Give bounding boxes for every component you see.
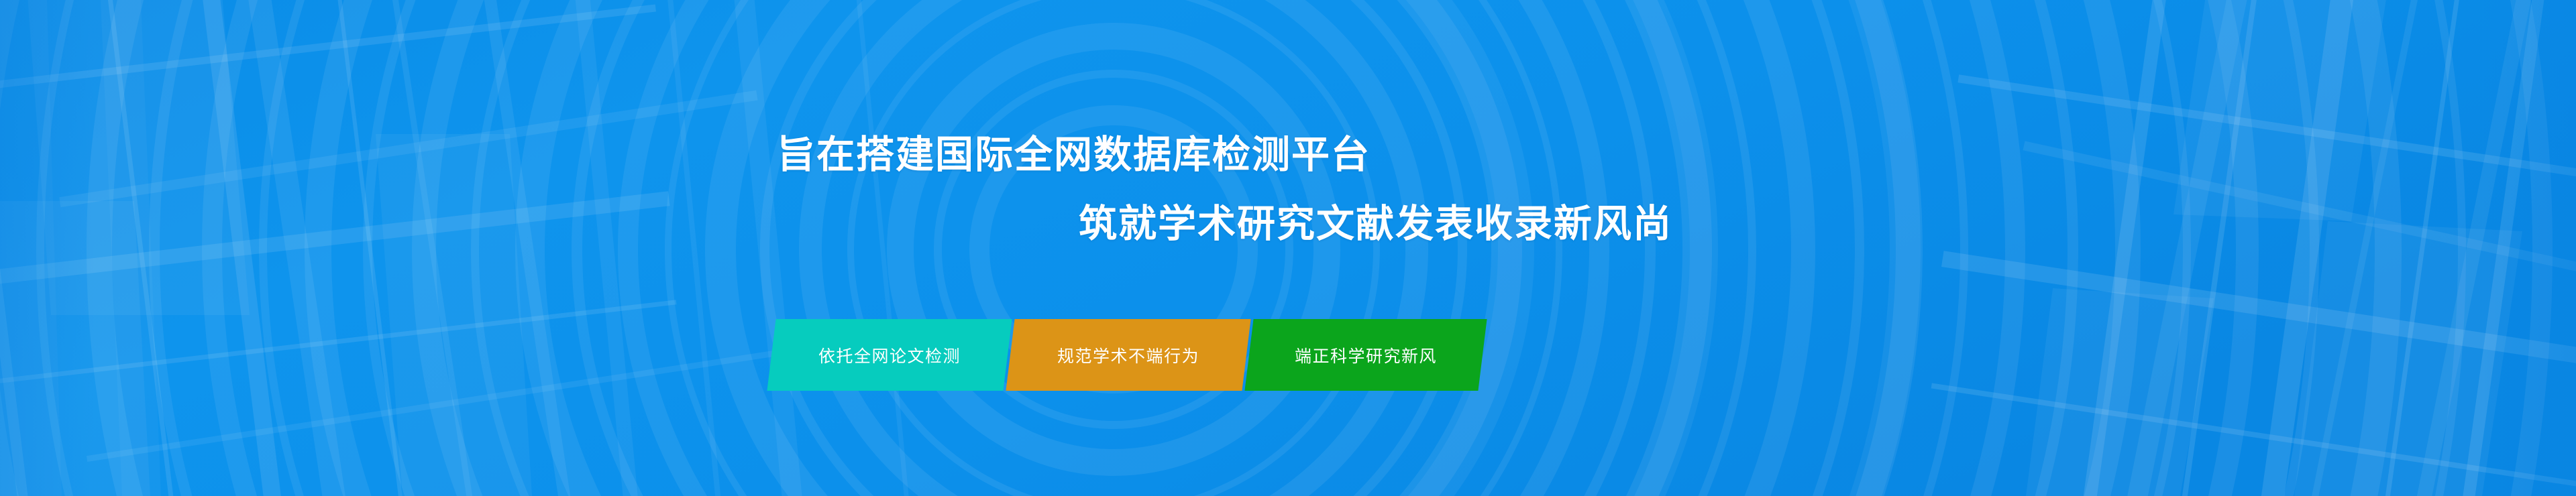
- badge-academic-misconduct-label: 规范学术不端行为: [1057, 343, 1199, 367]
- hero-banner: 旨在搭建国际全网数据库检测平台 筑就学术研究文献发表收录新风尚 依托全网论文检测…: [0, 0, 2576, 496]
- badge-paper-detection[interactable]: 依托全网论文检测: [767, 319, 1012, 391]
- background-pattern: [0, 0, 2576, 496]
- feature-badge-row: 依托全网论文检测 规范学术不端行为 端正科学研究新风: [771, 319, 1483, 391]
- badge-research-ethos[interactable]: 端正科学研究新风: [1244, 319, 1487, 391]
- badge-paper-detection-label: 依托全网论文检测: [818, 343, 961, 367]
- badge-academic-misconduct[interactable]: 规范学术不端行为: [1006, 319, 1250, 391]
- badge-research-ethos-label: 端正科学研究新风: [1295, 343, 1437, 367]
